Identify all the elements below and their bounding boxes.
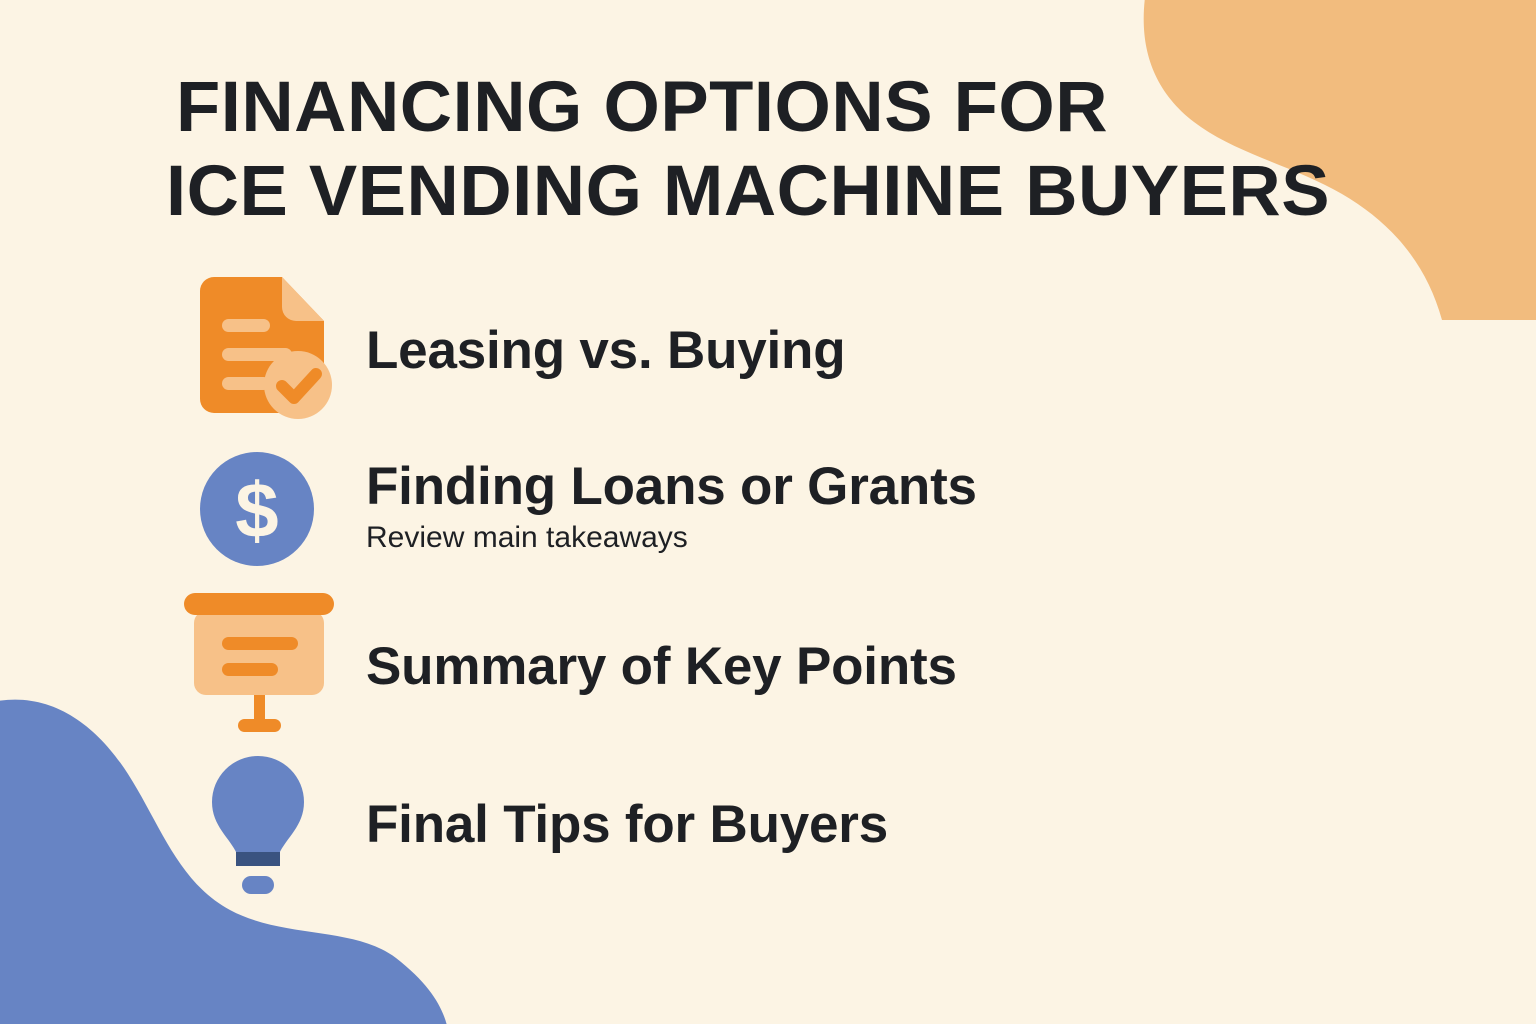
presentation-board-icon — [176, 591, 342, 743]
list-item-icon-wrap — [176, 746, 352, 904]
list-item-text: Summary of Key Points — [366, 637, 957, 697]
svg-text:$: $ — [235, 466, 278, 554]
dollar-circle-icon: $ — [198, 450, 316, 568]
list-item: Final Tips for Buyers — [176, 746, 1376, 904]
infographic-canvas: Financing Options For Ice Vending Machin… — [0, 0, 1536, 1024]
list-item: $ Finding Loans or Grants Review main ta… — [176, 430, 1376, 588]
document-check-icon — [186, 275, 338, 427]
list-item-text: Finding Loans or Grants Review main take… — [366, 457, 977, 557]
list-item-text: Final Tips for Buyers — [366, 795, 888, 855]
list-item-title: Summary of Key Points — [366, 637, 957, 697]
page-title: Financing Options For Ice Vending Machin… — [176, 66, 1466, 234]
list-item-title: Final Tips for Buyers — [366, 795, 888, 855]
list-item-text: Leasing vs. Buying — [366, 321, 845, 381]
list-item-icon-wrap — [176, 588, 352, 746]
lightbulb-icon — [198, 750, 318, 900]
list-item-icon-wrap: $ — [176, 430, 352, 588]
list-item-icon-wrap — [176, 272, 352, 430]
list-item-title: Leasing vs. Buying — [366, 321, 845, 381]
list-item-title: Finding Loans or Grants — [366, 457, 977, 517]
list-item-subtitle: Review main takeaways — [366, 519, 977, 557]
title-line-1: Financing Options For — [176, 66, 1492, 150]
list-item: Leasing vs. Buying — [176, 272, 1376, 430]
topic-list: Leasing vs. Buying $ Finding Loans or Gr… — [176, 272, 1376, 904]
list-item: Summary of Key Points — [176, 588, 1376, 746]
title-line-2: Ice Vending Machine Buyers — [166, 150, 1492, 234]
